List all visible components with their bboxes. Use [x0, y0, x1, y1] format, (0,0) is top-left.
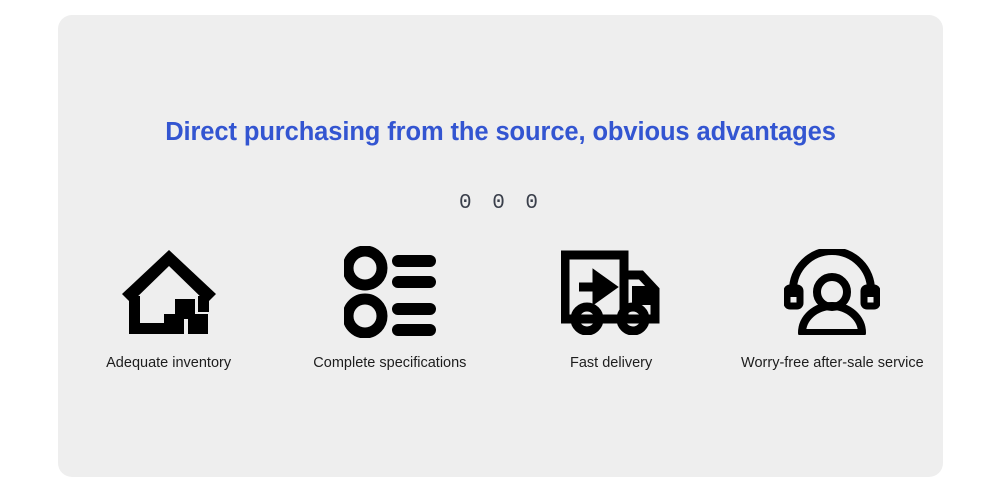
divider-dots: 0 0 0 — [58, 190, 943, 218]
page-title: Direct purchasing from the source, obvio… — [58, 118, 943, 147]
warehouse-icon — [117, 243, 221, 341]
promo-banner: Direct purchasing from the source, obvio… — [0, 0, 1000, 499]
feature-label: Worry-free after-sale service — [741, 355, 924, 371]
specification-list-icon — [338, 243, 442, 341]
feature-item-delivery: Fast delivery — [501, 243, 722, 371]
feature-item-support: Worry-free after-sale service — [722, 243, 943, 371]
feature-item-specifications: Complete specifications — [279, 243, 500, 371]
feature-label: Complete specifications — [313, 355, 466, 371]
feature-item-inventory: Adequate inventory — [58, 243, 279, 371]
feature-label: Adequate inventory — [106, 355, 231, 371]
delivery-truck-icon — [559, 243, 663, 341]
feature-label: Fast delivery — [570, 355, 652, 371]
headset-support-icon — [780, 243, 884, 341]
promo-card: Direct purchasing from the source, obvio… — [58, 15, 943, 477]
feature-list: Adequate inventory Complete specificatio… — [58, 243, 943, 371]
